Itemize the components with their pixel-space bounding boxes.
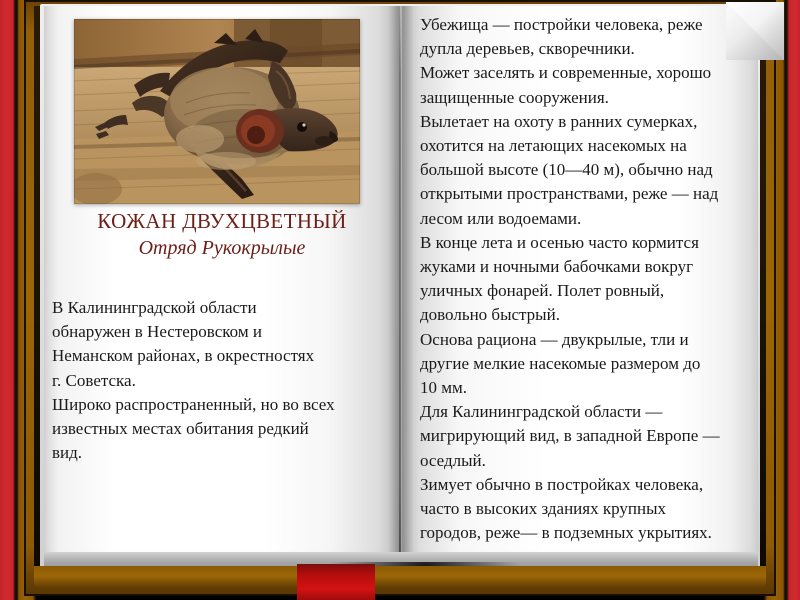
right-page-text-line: Для Калининградской области — (420, 400, 750, 424)
species-order: Отряд Рукокрылые (44, 235, 400, 261)
right-page-text-line: городов, реже— в подземных укрытиях. (420, 521, 750, 545)
right-page-text-line: жуками и ночными бабочками вокруг (420, 255, 750, 279)
left-page-text: В Калининградской областиобнаружен в Нес… (52, 296, 372, 465)
right-page-text-line: Зимует обычно в постройках человека, (420, 473, 750, 497)
bat-photo (74, 19, 360, 204)
right-page-text-line: Убежища — постройки человека, реже (420, 13, 750, 37)
species-title-block: КОЖАН ДВУХЦВЕТНЫЙ Отряд Рукокрылые (44, 208, 400, 261)
left-page-text-line: обнаружен в Нестеровском и (52, 320, 372, 344)
right-page-text-line: дупла деревьев, скворечники. (420, 37, 750, 61)
right-page-text-line: большой высоте (10—40 м), обычно над (420, 158, 750, 182)
left-page-text-line: Неманском районах, в окрестностях (52, 344, 372, 368)
right-page-text-line: мигрирующий вид, в западной Европе — (420, 424, 750, 448)
right-page-text-line: другие мелкие насекомые размером до (420, 352, 750, 376)
left-page-text-line: Широко распространенный, но во всех (52, 393, 372, 417)
right-page-text-line: В конце лета и осенью часто кормится (420, 231, 750, 255)
book-spine-line (399, 8, 401, 564)
bookmark-ribbon (297, 564, 375, 600)
right-page-text-line: довольно быстрый. (420, 303, 750, 327)
left-page-text-line: известных местах обитания редкий (52, 417, 372, 441)
book-cover-foot (34, 566, 766, 588)
right-page-text-line: открытыми пространствами, реже — над (420, 182, 750, 206)
right-page-text-line: 10 мм. (420, 376, 750, 400)
right-page-text-line: Основа рациона — двукрылые, тли и (420, 328, 750, 352)
right-page-text-line: уличных фонарей. Полет ровный, (420, 279, 750, 303)
left-page-text-line: г. Советска. (52, 369, 372, 393)
right-page-text-line: защищенные сооружения. (420, 86, 750, 110)
right-page-text-line: Вылетает на охоту в ранних сумерках, (420, 110, 750, 134)
right-page-text: Убежища — постройки человека, режедупла … (420, 13, 750, 545)
left-page-text-line: В Калининградской области (52, 296, 372, 320)
right-page-text-line: охотится на летающих насекомых на (420, 134, 750, 158)
right-page-text-line: оседлый. (420, 449, 750, 473)
right-page-text-line: лесом или водоемами. (420, 207, 750, 231)
species-title: КОЖАН ДВУХЦВЕТНЫЙ (44, 208, 400, 234)
bat-photo-illustration (74, 19, 360, 204)
left-page-text-line: вид. (52, 441, 372, 465)
right-page-text-line: Может заселять и современные, хорошо (420, 61, 750, 85)
slide-stage: КОЖАН ДВУХЦВЕТНЫЙ Отряд Рукокрылые В Кал… (0, 0, 800, 600)
right-page-text-line: часто в высоких зданиях крупных (420, 497, 750, 521)
